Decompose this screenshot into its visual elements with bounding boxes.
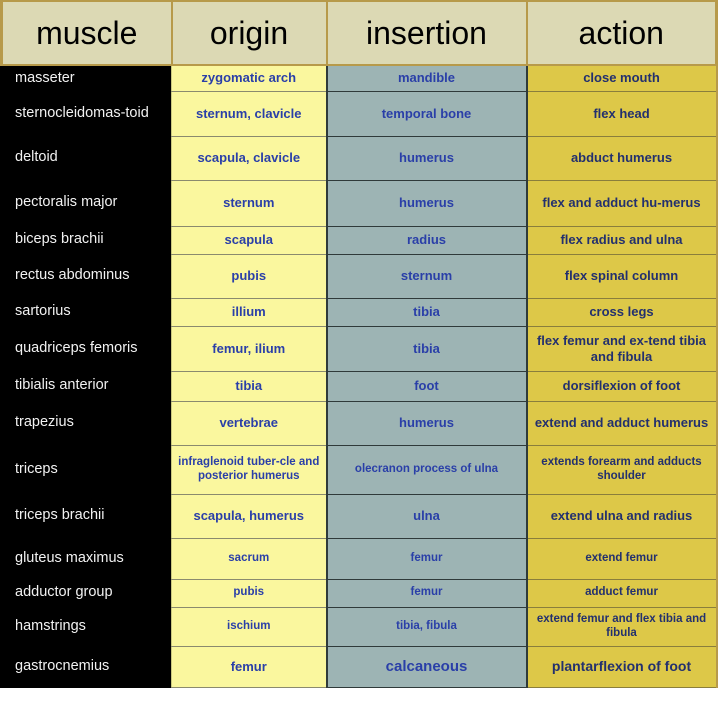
table-row: pectoralis majorsternumhumerusflex and a… bbox=[2, 180, 717, 226]
cell-action: abduct humerus bbox=[527, 136, 717, 180]
cell-action: flex femur and ex-tend tibia and fibula bbox=[527, 326, 717, 371]
cell-muscle: biceps brachii bbox=[2, 226, 172, 254]
cell-insertion: femur bbox=[327, 579, 527, 607]
column-header-insertion: insertion bbox=[327, 1, 527, 65]
table-row: tibialis anteriortibiafootdorsiflexion o… bbox=[2, 371, 717, 401]
cell-action: dorsiflexion of foot bbox=[527, 371, 717, 401]
cell-action: flex and adduct hu-merus bbox=[527, 180, 717, 226]
muscle-table-container: muscle origin insertion action masseterz… bbox=[0, 0, 720, 707]
cell-insertion: foot bbox=[327, 371, 527, 401]
cell-origin: infraglenoid tuber-cle and posterior hum… bbox=[172, 445, 327, 494]
cell-origin: pubis bbox=[172, 579, 327, 607]
cell-insertion: tibia bbox=[327, 326, 527, 371]
cell-action: adduct femur bbox=[527, 579, 717, 607]
cell-insertion: sternum bbox=[327, 254, 527, 298]
cell-action: flex head bbox=[527, 91, 717, 136]
cell-origin: scapula, humerus bbox=[172, 494, 327, 538]
cell-muscle: trapezius bbox=[2, 401, 172, 445]
cell-origin: illium bbox=[172, 298, 327, 326]
table-row: masseterzygomatic archmandibleclose mout… bbox=[2, 65, 717, 91]
table-row: sartoriusilliumtibiacross legs bbox=[2, 298, 717, 326]
cell-origin: sacrum bbox=[172, 538, 327, 579]
cell-origin: sternum, clavicle bbox=[172, 91, 327, 136]
cell-action: flex spinal column bbox=[527, 254, 717, 298]
cell-insertion: mandible bbox=[327, 65, 527, 91]
cell-action: extend femur and flex tibia and fibula bbox=[527, 607, 717, 646]
cell-action: extends forearm and adducts shoulder bbox=[527, 445, 717, 494]
cell-muscle: triceps bbox=[2, 445, 172, 494]
cell-muscle: adductor group bbox=[2, 579, 172, 607]
table-header: muscle origin insertion action bbox=[2, 1, 717, 65]
cell-origin: zygomatic arch bbox=[172, 65, 327, 91]
cell-insertion: tibia, fibula bbox=[327, 607, 527, 646]
cell-action: plantarflexion of foot bbox=[527, 646, 717, 687]
cell-insertion: olecranon process of ulna bbox=[327, 445, 527, 494]
cell-muscle: gluteus maximus bbox=[2, 538, 172, 579]
cell-muscle: sternocleidomas-toid bbox=[2, 91, 172, 136]
table-body: masseterzygomatic archmandibleclose mout… bbox=[2, 65, 717, 687]
cell-origin: pubis bbox=[172, 254, 327, 298]
cell-origin: femur, ilium bbox=[172, 326, 327, 371]
table-row: biceps brachiiscapularadiusflex radius a… bbox=[2, 226, 717, 254]
cell-origin: sternum bbox=[172, 180, 327, 226]
cell-insertion: femur bbox=[327, 538, 527, 579]
cell-action: cross legs bbox=[527, 298, 717, 326]
cell-insertion: humerus bbox=[327, 136, 527, 180]
cell-muscle: tibialis anterior bbox=[2, 371, 172, 401]
table-row: trapeziusvertebraehumerusextend and addu… bbox=[2, 401, 717, 445]
cell-action: flex radius and ulna bbox=[527, 226, 717, 254]
table-row: deltoidscapula, claviclehumerusabduct hu… bbox=[2, 136, 717, 180]
column-header-action: action bbox=[527, 1, 717, 65]
cell-insertion: humerus bbox=[327, 401, 527, 445]
cell-insertion: tibia bbox=[327, 298, 527, 326]
table-row: sternocleidomas-toidsternum, clavicletem… bbox=[2, 91, 717, 136]
cell-insertion: ulna bbox=[327, 494, 527, 538]
muscle-origin-insertion-action-table: muscle origin insertion action masseterz… bbox=[0, 0, 718, 688]
cell-origin: scapula bbox=[172, 226, 327, 254]
table-row: gluteus maximussacrumfemurextend femur bbox=[2, 538, 717, 579]
cell-origin: scapula, clavicle bbox=[172, 136, 327, 180]
table-row: quadriceps femorisfemur, iliumtibiaflex … bbox=[2, 326, 717, 371]
cell-muscle: rectus abdominus bbox=[2, 254, 172, 298]
cell-muscle: deltoid bbox=[2, 136, 172, 180]
table-row: rectus abdominuspubissternumflex spinal … bbox=[2, 254, 717, 298]
cell-insertion: temporal bone bbox=[327, 91, 527, 136]
table-row: triceps brachiiscapula, humerusulnaexten… bbox=[2, 494, 717, 538]
table-row: tricepsinfraglenoid tuber-cle and poster… bbox=[2, 445, 717, 494]
cell-muscle: gastrocnemius bbox=[2, 646, 172, 687]
table-row: adductor grouppubisfemuradduct femur bbox=[2, 579, 717, 607]
cell-muscle: quadriceps femoris bbox=[2, 326, 172, 371]
column-header-origin: origin bbox=[172, 1, 327, 65]
cell-action: close mouth bbox=[527, 65, 717, 91]
cell-insertion: calcaneous bbox=[327, 646, 527, 687]
cell-muscle: sartorius bbox=[2, 298, 172, 326]
table-row: hamstringsischiumtibia, fibulaextend fem… bbox=[2, 607, 717, 646]
cell-origin: tibia bbox=[172, 371, 327, 401]
table-row: gastrocnemiusfemurcalcaneousplantarflexi… bbox=[2, 646, 717, 687]
cell-muscle: triceps brachii bbox=[2, 494, 172, 538]
header-row: muscle origin insertion action bbox=[2, 1, 717, 65]
cell-muscle: hamstrings bbox=[2, 607, 172, 646]
cell-origin: vertebrae bbox=[172, 401, 327, 445]
cell-origin: femur bbox=[172, 646, 327, 687]
cell-muscle: pectoralis major bbox=[2, 180, 172, 226]
cell-action: extend and adduct humerus bbox=[527, 401, 717, 445]
cell-muscle: masseter bbox=[2, 65, 172, 91]
column-header-muscle: muscle bbox=[2, 1, 172, 65]
cell-insertion: radius bbox=[327, 226, 527, 254]
cell-origin: ischium bbox=[172, 607, 327, 646]
cell-action: extend femur bbox=[527, 538, 717, 579]
cell-action: extend ulna and radius bbox=[527, 494, 717, 538]
cell-insertion: humerus bbox=[327, 180, 527, 226]
